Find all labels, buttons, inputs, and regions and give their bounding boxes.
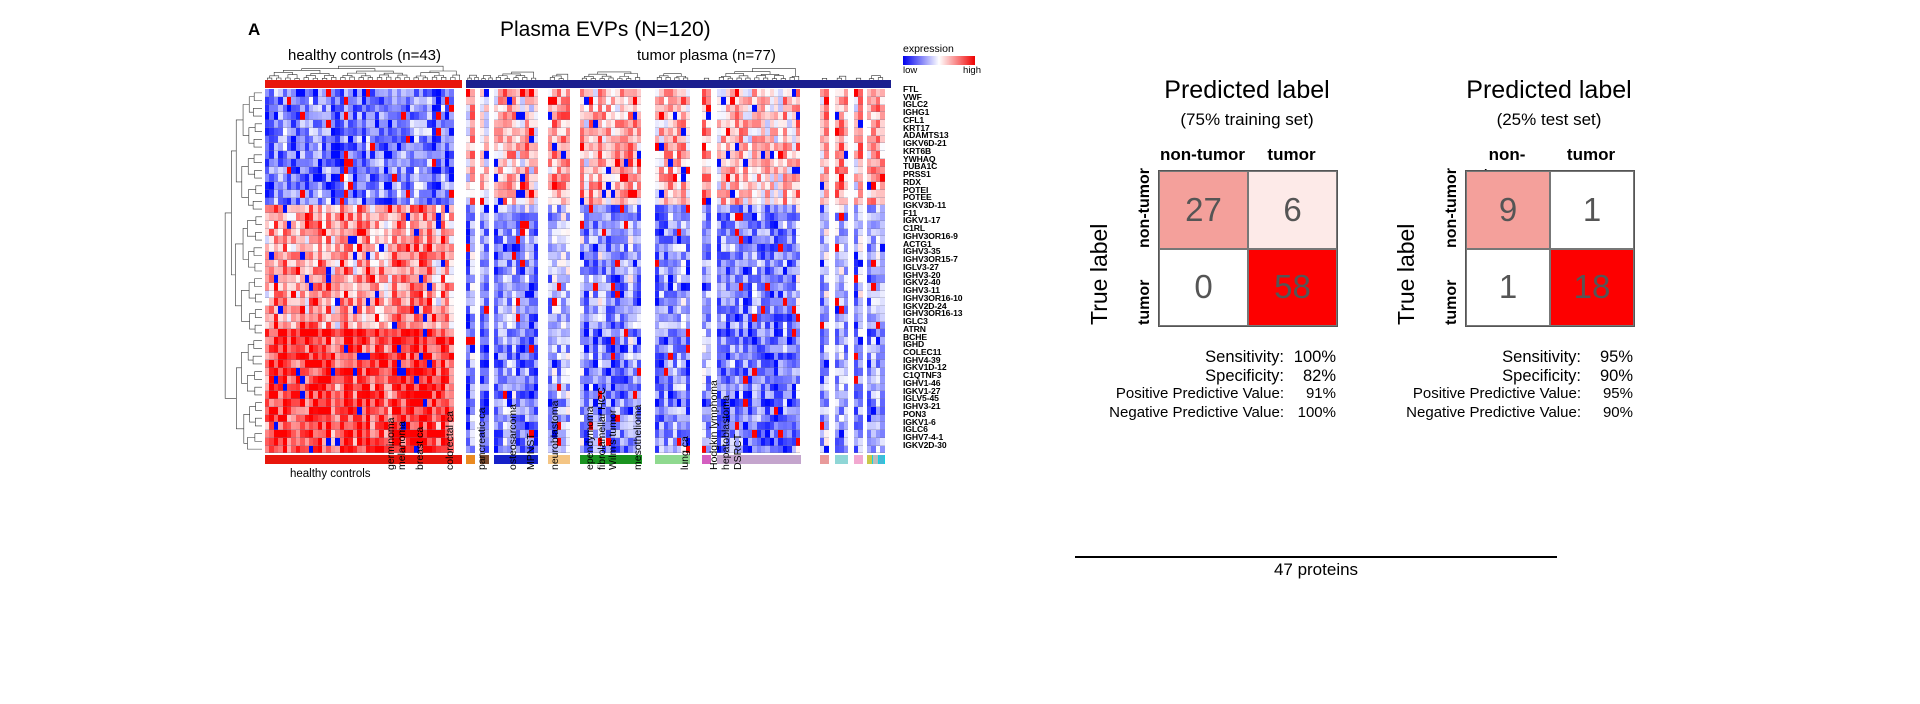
heatmap-cell <box>637 190 641 198</box>
heatmap-cell <box>534 337 538 345</box>
heatmap-cell <box>566 291 570 299</box>
heatmap-cell <box>706 205 710 213</box>
heatmap-cell <box>706 275 710 283</box>
heatmap-cell <box>484 97 488 105</box>
heatmap-cell <box>566 345 570 353</box>
heatmap-cell <box>449 174 453 182</box>
heatmap-cell <box>534 399 538 407</box>
heatmap-cell <box>686 422 690 430</box>
heatmap-cell <box>534 260 538 268</box>
heatmap-cell <box>449 314 453 322</box>
heatmap-cell <box>470 407 474 415</box>
heatmap-cell <box>534 120 538 128</box>
heatmap-cell <box>686 97 690 105</box>
heatmap-cell <box>566 236 570 244</box>
heatmap-cell <box>484 151 488 159</box>
heatmap-cell <box>706 368 710 376</box>
heatmap-cell <box>637 260 641 268</box>
heatmap-cell <box>686 314 690 322</box>
heatmap-cell <box>637 120 641 128</box>
expression-legend: expression low high <box>903 44 999 76</box>
heatmap-cell <box>484 360 488 368</box>
heatmap-column <box>534 89 538 453</box>
heatmap-cell <box>706 167 710 175</box>
heatmap-cell <box>566 283 570 291</box>
heatmap-cell <box>686 252 690 260</box>
heatmap-cell <box>449 105 453 113</box>
heatmap-cell <box>566 105 570 113</box>
heatmap-cell <box>706 244 710 252</box>
heatmap-cell <box>484 267 488 275</box>
heatmap-cell <box>686 306 690 314</box>
heatmap-cell <box>637 314 641 322</box>
heatmap-cell <box>566 190 570 198</box>
heatmap-cell <box>484 213 488 221</box>
heatmap-cell <box>566 353 570 361</box>
heatmap-cell <box>470 314 474 322</box>
heatmap-cell <box>449 89 453 97</box>
heatmap-cell <box>534 174 538 182</box>
heatmap-cell <box>449 112 453 120</box>
heatmap-cell <box>706 337 710 345</box>
heatmap-cell <box>637 198 641 206</box>
heatmap-cell <box>637 298 641 306</box>
heatmap-cell <box>637 345 641 353</box>
heatmap-cell <box>566 229 570 237</box>
heatmap-cell <box>566 306 570 314</box>
heatmap-cell <box>470 236 474 244</box>
heatmap-cell <box>534 391 538 399</box>
heatmap-cell <box>686 174 690 182</box>
heatmap-cell <box>686 360 690 368</box>
heatmap-cell <box>470 438 474 446</box>
heatmap-cell <box>686 120 690 128</box>
heatmap-cell <box>534 306 538 314</box>
heatmap-cell <box>470 345 474 353</box>
heatmap-cell <box>449 252 453 260</box>
heatmap-cell <box>449 399 453 407</box>
heatmap-cell <box>449 244 453 252</box>
heatmap-cell <box>484 136 488 144</box>
heatmap-cell <box>470 446 474 454</box>
heatmap-cell <box>566 329 570 337</box>
heatmap-cell <box>534 167 538 175</box>
heatmap-cell <box>706 314 710 322</box>
heatmap-cell <box>449 376 453 384</box>
heatmap-cell <box>637 105 641 113</box>
panel-letter: A <box>248 20 260 40</box>
heatmap-cell <box>534 89 538 97</box>
heatmap-cell <box>686 283 690 291</box>
heatmap-cell <box>534 407 538 415</box>
heatmap-cell <box>566 97 570 105</box>
heatmap-cell <box>566 221 570 229</box>
heatmap-cell <box>637 391 641 399</box>
heatmap-cell <box>686 112 690 120</box>
heatmap-cell <box>449 283 453 291</box>
heatmap-cell <box>706 190 710 198</box>
heatmap-cell <box>484 182 488 190</box>
heatmap-cell <box>449 128 453 136</box>
heatmap-cell <box>566 213 570 221</box>
heatmap-cell <box>686 244 690 252</box>
heatmap-cell <box>566 415 570 423</box>
heatmap-cell <box>449 205 453 213</box>
heatmap-cell <box>470 112 474 120</box>
heatmap-cell <box>484 329 488 337</box>
heatmap-cell <box>484 167 488 175</box>
heatmap-cell <box>484 368 488 376</box>
heatmap-sample-block <box>548 89 570 453</box>
heatmap-cell <box>686 376 690 384</box>
heatmap-cell <box>686 267 690 275</box>
heatmap-cell <box>470 190 474 198</box>
heatmap-cell <box>449 159 453 167</box>
heatmap-cell <box>470 244 474 252</box>
heatmap-cell <box>637 151 641 159</box>
heatmap-cell <box>484 399 488 407</box>
heatmap-cell <box>637 229 641 237</box>
heatmap-cell <box>534 213 538 221</box>
heatmap-cell <box>637 182 641 190</box>
heatmap-cell <box>566 120 570 128</box>
heatmap-cell <box>637 283 641 291</box>
heatmap-cell <box>470 105 474 113</box>
heatmap-cell <box>484 353 488 361</box>
heatmap-column <box>470 89 474 453</box>
heatmap-cell <box>637 267 641 275</box>
heatmap-cell <box>534 182 538 190</box>
heatmap-cell <box>706 353 710 361</box>
heatmap-cell <box>484 260 488 268</box>
heatmap-cell <box>686 322 690 330</box>
heatmap-cell <box>470 229 474 237</box>
heatmap-cell <box>470 159 474 167</box>
heatmap-cell <box>534 267 538 275</box>
heatmap-cell <box>534 112 538 120</box>
heatmap-cell <box>686 213 690 221</box>
heatmap-cell <box>566 322 570 330</box>
heatmap-cell <box>686 236 690 244</box>
heatmap-cell <box>534 298 538 306</box>
heatmap-cell <box>706 298 710 306</box>
heatmap-cell <box>470 182 474 190</box>
heatmap-cell <box>637 167 641 175</box>
heatmap-cell <box>686 345 690 353</box>
heatmap-cell <box>534 329 538 337</box>
heatmap-cell <box>637 353 641 361</box>
heatmap-cell <box>566 438 570 446</box>
heatmap-cell <box>706 345 710 353</box>
heatmap-cell <box>484 322 488 330</box>
heatmap-sample-block <box>480 89 489 453</box>
heatmap-cell <box>470 337 474 345</box>
heatmap-column <box>686 89 690 453</box>
heatmap-cell <box>534 291 538 299</box>
heatmap-sample-block <box>466 89 475 453</box>
heatmap-cell <box>706 236 710 244</box>
heatmap-cell <box>637 221 641 229</box>
heatmap-cell <box>534 159 538 167</box>
heatmap-cell <box>534 360 538 368</box>
heatmap-cell <box>470 136 474 144</box>
heatmap-cell <box>470 399 474 407</box>
heatmap-cell <box>449 236 453 244</box>
heatmap-sample-block <box>580 89 641 453</box>
heatmap-cell <box>566 391 570 399</box>
heatmap-cell <box>686 384 690 392</box>
heatmap-cell <box>706 112 710 120</box>
heatmap-sample-block <box>655 89 690 453</box>
heatmap-cell <box>470 167 474 175</box>
heatmap-cell <box>706 229 710 237</box>
heatmap-cell <box>566 260 570 268</box>
heatmap-cell <box>449 221 453 229</box>
heatmap-cell <box>637 337 641 345</box>
heatmap-cell <box>534 190 538 198</box>
heatmap-cell <box>686 105 690 113</box>
heatmap-cell <box>470 422 474 430</box>
heatmap-cell <box>566 252 570 260</box>
heatmap-cell <box>686 221 690 229</box>
heatmap-cell <box>637 112 641 120</box>
heatmap-cell <box>484 337 488 345</box>
heatmap-cell <box>484 205 488 213</box>
heatmap-cell <box>706 120 710 128</box>
heatmap-cell <box>566 337 570 345</box>
heatmap-cell <box>534 314 538 322</box>
heatmap-cell <box>484 112 488 120</box>
heatmap-cell <box>484 105 488 113</box>
heatmap-cell <box>484 291 488 299</box>
heatmap-cell <box>449 322 453 330</box>
heatmap-cell <box>484 391 488 399</box>
heatmap-cell <box>449 353 453 361</box>
heatmap-cell <box>637 159 641 167</box>
heatmap-cell <box>686 205 690 213</box>
heatmap-cell <box>449 384 453 392</box>
heatmap-cell <box>706 252 710 260</box>
heatmap-cell <box>470 120 474 128</box>
heatmap-cell <box>470 267 474 275</box>
heatmap-cell <box>706 267 710 275</box>
heatmap-cell <box>686 275 690 283</box>
heatmap-cell <box>637 329 641 337</box>
heatmap-cell <box>470 97 474 105</box>
heatmap-cell <box>637 143 641 151</box>
heatmap-cell <box>534 368 538 376</box>
heatmap-cell <box>566 198 570 206</box>
heatmap-cell <box>449 337 453 345</box>
heatmap-cell <box>534 415 538 423</box>
heatmap-grid <box>265 89 891 453</box>
heatmap-cell <box>637 244 641 252</box>
heatmap-cell <box>449 97 453 105</box>
heatmap-cell <box>484 89 488 97</box>
heatmap-cell <box>534 128 538 136</box>
heatmap-cell <box>637 174 641 182</box>
heatmap-sample-block <box>494 89 538 453</box>
heatmap-cell <box>637 376 641 384</box>
heatmap-cell <box>484 174 488 182</box>
heatmap-cell <box>484 283 488 291</box>
heatmap-cell <box>566 430 570 438</box>
heatmap-cell <box>566 360 570 368</box>
tumor-plasma-colorbar <box>466 80 891 88</box>
legend-title: expression <box>903 44 999 55</box>
heatmap-cell <box>566 182 570 190</box>
heatmap-column <box>566 89 570 453</box>
heatmap-cell <box>637 322 641 330</box>
heatmap-cell <box>534 252 538 260</box>
heatmap-cell <box>449 120 453 128</box>
heatmap-cell <box>534 275 538 283</box>
heatmap-cell <box>484 314 488 322</box>
heatmap-cell <box>449 291 453 299</box>
heatmap-cell <box>706 329 710 337</box>
heatmap-cell <box>706 291 710 299</box>
heatmap-cell <box>566 112 570 120</box>
heatmap-cell <box>686 89 690 97</box>
heatmap-cell <box>706 128 710 136</box>
heatmap-cell <box>534 345 538 353</box>
heatmap-cell <box>637 128 641 136</box>
heatmap-cell <box>449 368 453 376</box>
heatmap-cell <box>706 159 710 167</box>
heatmap-cell <box>470 275 474 283</box>
heatmap-sample-block <box>265 89 454 453</box>
heatmap-cell <box>449 360 453 368</box>
heatmap-cell <box>566 376 570 384</box>
heatmap-cell <box>686 143 690 151</box>
heatmap-cell <box>637 89 641 97</box>
heatmap-cell <box>534 151 538 159</box>
heatmap-cell <box>470 430 474 438</box>
heatmap-cell <box>686 182 690 190</box>
heatmap-cell <box>449 345 453 353</box>
heatmap-cell <box>637 306 641 314</box>
heatmap-cell <box>534 221 538 229</box>
heatmap-cell <box>449 260 453 268</box>
heatmap-cell <box>637 205 641 213</box>
heatmap-cell <box>470 89 474 97</box>
heatmap-cell <box>470 306 474 314</box>
heatmap-cell <box>566 314 570 322</box>
heatmap-cell <box>706 213 710 221</box>
heatmap-cell <box>706 198 710 206</box>
heatmap-cell <box>534 283 538 291</box>
heatmap-cell <box>534 244 538 252</box>
heatmap-cell <box>484 244 488 252</box>
heatmap-cell <box>686 136 690 144</box>
heatmap-cell <box>706 221 710 229</box>
heatmap-cell <box>686 353 690 361</box>
heatmap-cell <box>534 205 538 213</box>
heatmap-cell <box>484 159 488 167</box>
heatmap-cell <box>449 329 453 337</box>
heatmap-cell <box>637 275 641 283</box>
heatmap-cell <box>449 267 453 275</box>
row-dendrogram <box>200 89 262 453</box>
heatmap-cell <box>706 260 710 268</box>
heatmap-cell <box>686 329 690 337</box>
heatmap-cell <box>566 167 570 175</box>
heatmap-cell <box>470 384 474 392</box>
heatmap-cell <box>484 221 488 229</box>
heatmap-cell <box>706 143 710 151</box>
heatmap-cell <box>484 236 488 244</box>
heatmap-cell <box>686 415 690 423</box>
heatmap-cell <box>534 105 538 113</box>
heatmap-cell <box>470 415 474 423</box>
heatmap-cell <box>484 143 488 151</box>
heatmap-cell <box>686 291 690 299</box>
heatmap-cell <box>470 391 474 399</box>
heatmap-cell <box>449 275 453 283</box>
heatmap-cell <box>534 143 538 151</box>
heatmap-cell <box>686 128 690 136</box>
heatmap-cell <box>449 298 453 306</box>
heatmap-cell <box>449 167 453 175</box>
heatmap-cell <box>637 136 641 144</box>
heatmap-cell <box>686 229 690 237</box>
heatmap-cell <box>706 89 710 97</box>
heatmap-cell <box>686 298 690 306</box>
heatmap-cell <box>637 97 641 105</box>
heatmap-panel: A Plasma EVPs (N=120) healthy controls (… <box>0 0 1060 704</box>
heatmap-cell <box>484 252 488 260</box>
heatmap-cell <box>484 275 488 283</box>
heatmap-cell <box>449 229 453 237</box>
heatmap-cell <box>484 384 488 392</box>
heatmap-cell <box>534 422 538 430</box>
heatmap-cell <box>470 368 474 376</box>
heatmap-cell <box>566 205 570 213</box>
heatmap-cell <box>534 376 538 384</box>
heatmap-cell <box>470 252 474 260</box>
heatmap-cell <box>566 298 570 306</box>
heatmap-column <box>449 89 453 453</box>
heatmap-cell <box>637 384 641 392</box>
heatmap-cell <box>566 136 570 144</box>
heatmap-cell <box>484 190 488 198</box>
heatmap-cell <box>686 190 690 198</box>
heatmap-cell <box>566 368 570 376</box>
heatmap-cell <box>637 291 641 299</box>
page-title: Plasma EVPs (N=120) <box>500 18 711 42</box>
heatmap-cell <box>449 190 453 198</box>
heatmap-cell <box>566 446 570 454</box>
heatmap-cell <box>449 306 453 314</box>
heatmap-cell <box>470 298 474 306</box>
heatmap-cell <box>706 97 710 105</box>
heatmap-cell <box>534 198 538 206</box>
heatmap-cell <box>470 360 474 368</box>
heatmap-cell <box>470 128 474 136</box>
heatmap-cell <box>706 360 710 368</box>
heatmap-cell <box>470 283 474 291</box>
heatmap-cell <box>686 337 690 345</box>
heatmap-cell <box>470 198 474 206</box>
heatmap-cell <box>470 174 474 182</box>
heatmap-cell <box>470 376 474 384</box>
heatmap-cell <box>686 159 690 167</box>
heatmap-cell <box>637 236 641 244</box>
heatmap-cell <box>534 322 538 330</box>
heatmap-cell <box>566 143 570 151</box>
heatmap-cell <box>484 198 488 206</box>
heatmap-cell <box>449 213 453 221</box>
